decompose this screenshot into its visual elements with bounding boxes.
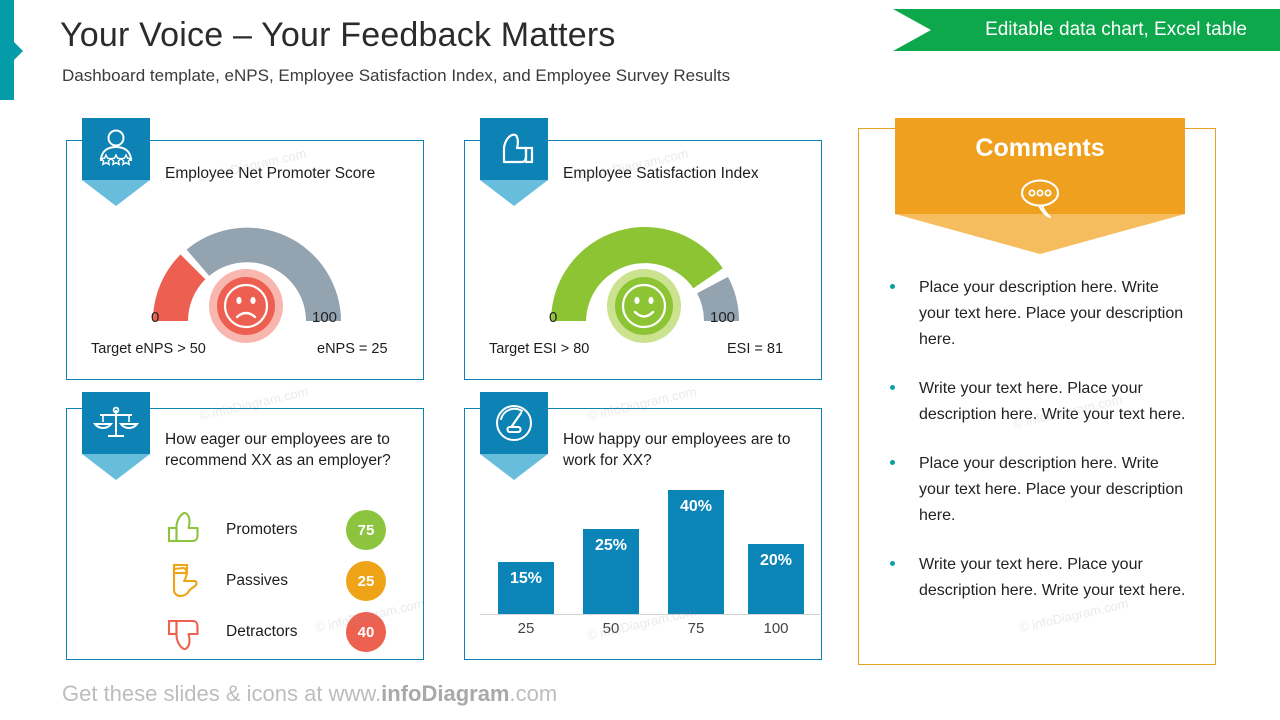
enps-target-label: Target eNPS > 50 xyxy=(91,341,206,357)
list-item-detractors[interactable]: Detractors 40 xyxy=(162,609,386,655)
editable-chart-ribbon: Editable data chart, Excel table xyxy=(893,9,1280,51)
enps-scale-max: 100 xyxy=(312,309,337,326)
x-axis-line xyxy=(480,614,820,615)
list-item[interactable]: Place your description here. Write your … xyxy=(886,451,1186,529)
badge-happy xyxy=(480,392,548,480)
enps-scale-min: 0 xyxy=(151,309,159,326)
footer-brand: infoDiagram xyxy=(381,681,509,706)
footer-prefix: Get these slides & icons at www. xyxy=(62,681,381,706)
list-item[interactable]: Place your description here. Write your … xyxy=(886,275,1186,353)
happy-face-icon xyxy=(607,269,681,343)
badge-tail-promoters xyxy=(82,454,150,480)
bar-column[interactable]: 15% xyxy=(498,562,554,614)
slide-root: Your Voice – Your Feedback Matters Dashb… xyxy=(0,0,1280,720)
comments-title: Comments xyxy=(895,134,1185,163)
bar-25[interactable]: 15% xyxy=(498,562,554,614)
badge-esi xyxy=(480,118,548,206)
list-item[interactable]: Write your text here. Place your descrip… xyxy=(886,552,1186,604)
gauge-meter-icon xyxy=(480,392,548,454)
badge-tail-happy xyxy=(480,454,548,480)
comment-text-1: Place your description here. Write your … xyxy=(919,275,1186,353)
left-accent-notch-icon xyxy=(14,42,23,60)
x-tick-2: 75 xyxy=(668,620,724,637)
enps-value-label: eNPS = 25 xyxy=(317,341,388,357)
card-title-enps: Employee Net Promoter Score xyxy=(165,163,405,184)
ribbon-label: Editable data chart, Excel table xyxy=(985,19,1247,41)
footer-link[interactable]: Get these slides & icons at www.infoDiag… xyxy=(62,681,557,707)
row-value-detractors: 40 xyxy=(346,612,386,652)
speech-bubble-icon xyxy=(1014,174,1066,231)
thumb-up-outline-icon xyxy=(162,507,208,553)
comment-text-3: Place your description here. Write your … xyxy=(919,451,1186,529)
bar-value-75: 40% xyxy=(668,498,724,516)
user-stars-icon xyxy=(82,118,150,180)
list-item-promoters[interactable]: Promoters 75 xyxy=(162,507,386,553)
row-label-passives: Passives xyxy=(226,572,346,590)
scales-balance-icon xyxy=(82,392,150,454)
thumb-up-icon xyxy=(480,118,548,180)
bar-column[interactable]: 40% xyxy=(668,490,724,614)
card-title-happy: How happy our employees are to work for … xyxy=(563,429,801,471)
page-title: Your Voice – Your Feedback Matters xyxy=(60,16,616,55)
badge-promoters xyxy=(82,392,150,480)
bar-chart-plot-area: 15% 25% 40% 20% xyxy=(480,490,820,614)
bar-50[interactable]: 25% xyxy=(583,529,639,614)
happiness-bar-chart: 15% 25% 40% 20% 25 50 75 100 xyxy=(480,490,820,650)
footer-suffix: .com xyxy=(510,681,558,706)
x-tick-1: 50 xyxy=(583,620,639,637)
comments-bullet-list: Place your description here. Write your … xyxy=(886,275,1186,627)
bar-value-50: 25% xyxy=(583,537,639,555)
x-tick-0: 25 xyxy=(498,620,554,637)
row-value-promoters: 75 xyxy=(346,510,386,550)
bar-100[interactable]: 20% xyxy=(748,544,804,614)
badge-tail-esi xyxy=(480,180,548,206)
card-title-esi: Employee Satisfaction Index xyxy=(563,163,803,184)
bar-value-25: 15% xyxy=(498,570,554,588)
x-tick-3: 100 xyxy=(748,620,804,637)
comment-text-4: Write your text here. Place your descrip… xyxy=(919,552,1186,604)
row-label-detractors: Detractors xyxy=(226,623,346,641)
sad-face-icon xyxy=(209,269,283,343)
list-item-passives[interactable]: Passives 25 xyxy=(162,558,386,604)
esi-value-label: ESI = 81 xyxy=(727,341,783,357)
left-accent-bar xyxy=(0,0,14,100)
thumb-down-outline-icon xyxy=(162,609,208,655)
bar-column[interactable]: 25% xyxy=(583,529,639,614)
list-item[interactable]: Write your text here. Place your descrip… xyxy=(886,376,1186,428)
comment-text-2: Write your text here. Place your descrip… xyxy=(919,376,1186,428)
bar-value-100: 20% xyxy=(748,552,804,570)
row-value-passives: 25 xyxy=(346,561,386,601)
comments-header-banner: Comments xyxy=(895,118,1185,253)
card-title-promoters: How eager our employees are to recommend… xyxy=(165,429,409,471)
bar-75[interactable]: 40% xyxy=(668,490,724,614)
esi-scale-min: 0 xyxy=(549,309,557,326)
row-label-promoters: Promoters xyxy=(226,521,346,539)
badge-enps xyxy=(82,118,150,206)
bar-column[interactable]: 20% xyxy=(748,544,804,614)
esi-target-label: Target ESI > 80 xyxy=(489,341,589,357)
badge-tail-enps xyxy=(82,180,150,206)
page-subtitle: Dashboard template, eNPS, Employee Satis… xyxy=(62,66,730,86)
esi-scale-max: 100 xyxy=(710,309,735,326)
hand-sideways-outline-icon xyxy=(162,558,208,604)
